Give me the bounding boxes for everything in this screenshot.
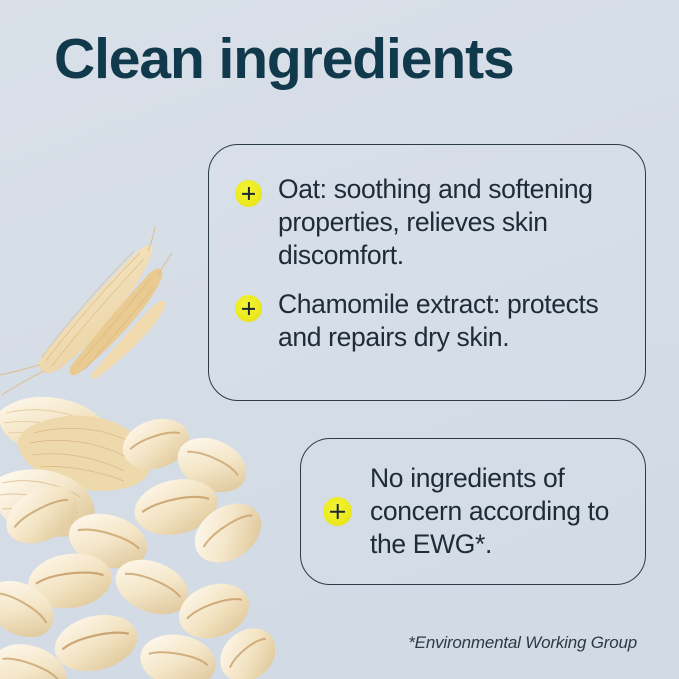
list-item: Chamomile extract: protects and repairs … [235,288,619,354]
list-item-label: Oat: soothing and softening properties, … [278,173,618,272]
plus-badge-icon [323,497,352,526]
ingredients-card: Oat: soothing and softening properties, … [208,144,646,401]
ewg-card: No ingredients of concern according to t… [300,438,646,585]
ewg-card-label: No ingredients of concern according to t… [370,462,638,561]
page-title: Clean ingredients [54,27,514,91]
list-item: No ingredients of concern according to t… [301,462,638,561]
list-item-label: Chamomile extract: protects and repairs … [278,288,618,354]
plus-badge-icon [235,180,262,207]
list-item: Oat: soothing and softening properties, … [235,173,619,272]
plus-badge-icon [235,295,262,322]
footnote: *Environmental Working Group [408,632,637,654]
product-ingredients-panel: Clean ingredients Oat: soothing and soft… [0,0,679,679]
